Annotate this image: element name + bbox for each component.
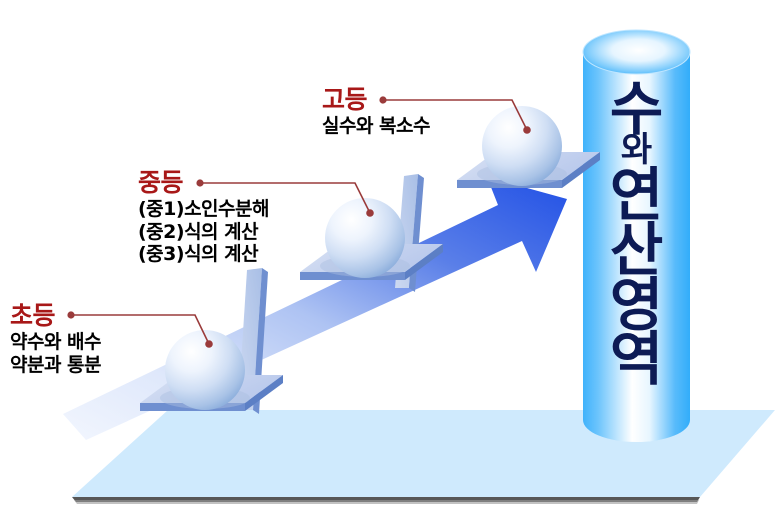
stage-topics-high: 실수와 복소수 <box>322 115 430 137</box>
stage-topics-elementary: 약수와 배수 약분과 통분 <box>10 331 101 376</box>
topic-item: (중2)식의 계산 <box>138 221 269 243</box>
stage-title-high: 고등 <box>322 87 430 113</box>
pillar-cylinder <box>583 30 690 442</box>
topic-item: (중3)식의 계산 <box>138 243 269 265</box>
topic-item: (중1)소인수분해 <box>138 198 269 220</box>
topic-item: 약분과 통분 <box>10 354 101 376</box>
topic-item: 실수와 복소수 <box>322 115 430 137</box>
diagram-illustration <box>0 0 775 510</box>
diagram-canvas: 초등 약수와 배수 약분과 통분 중등 (중1)소인수분해 (중2)식의 계산 … <box>0 0 775 510</box>
stage-label-elementary: 초등 약수와 배수 약분과 통분 <box>10 303 101 376</box>
stage-title-elementary: 초등 <box>10 303 101 329</box>
stage-label-middle: 중등 (중1)소인수분해 (중2)식의 계산 (중3)식의 계산 <box>138 170 269 265</box>
stage-topics-middle: (중1)소인수분해 (중2)식의 계산 (중3)식의 계산 <box>138 198 269 265</box>
stage-title-middle: 중등 <box>138 170 269 196</box>
topic-item: 약수와 배수 <box>10 331 101 353</box>
sphere-middle <box>320 198 410 278</box>
stage-label-high: 고등 실수와 복소수 <box>322 87 430 138</box>
sphere-high <box>477 106 567 186</box>
